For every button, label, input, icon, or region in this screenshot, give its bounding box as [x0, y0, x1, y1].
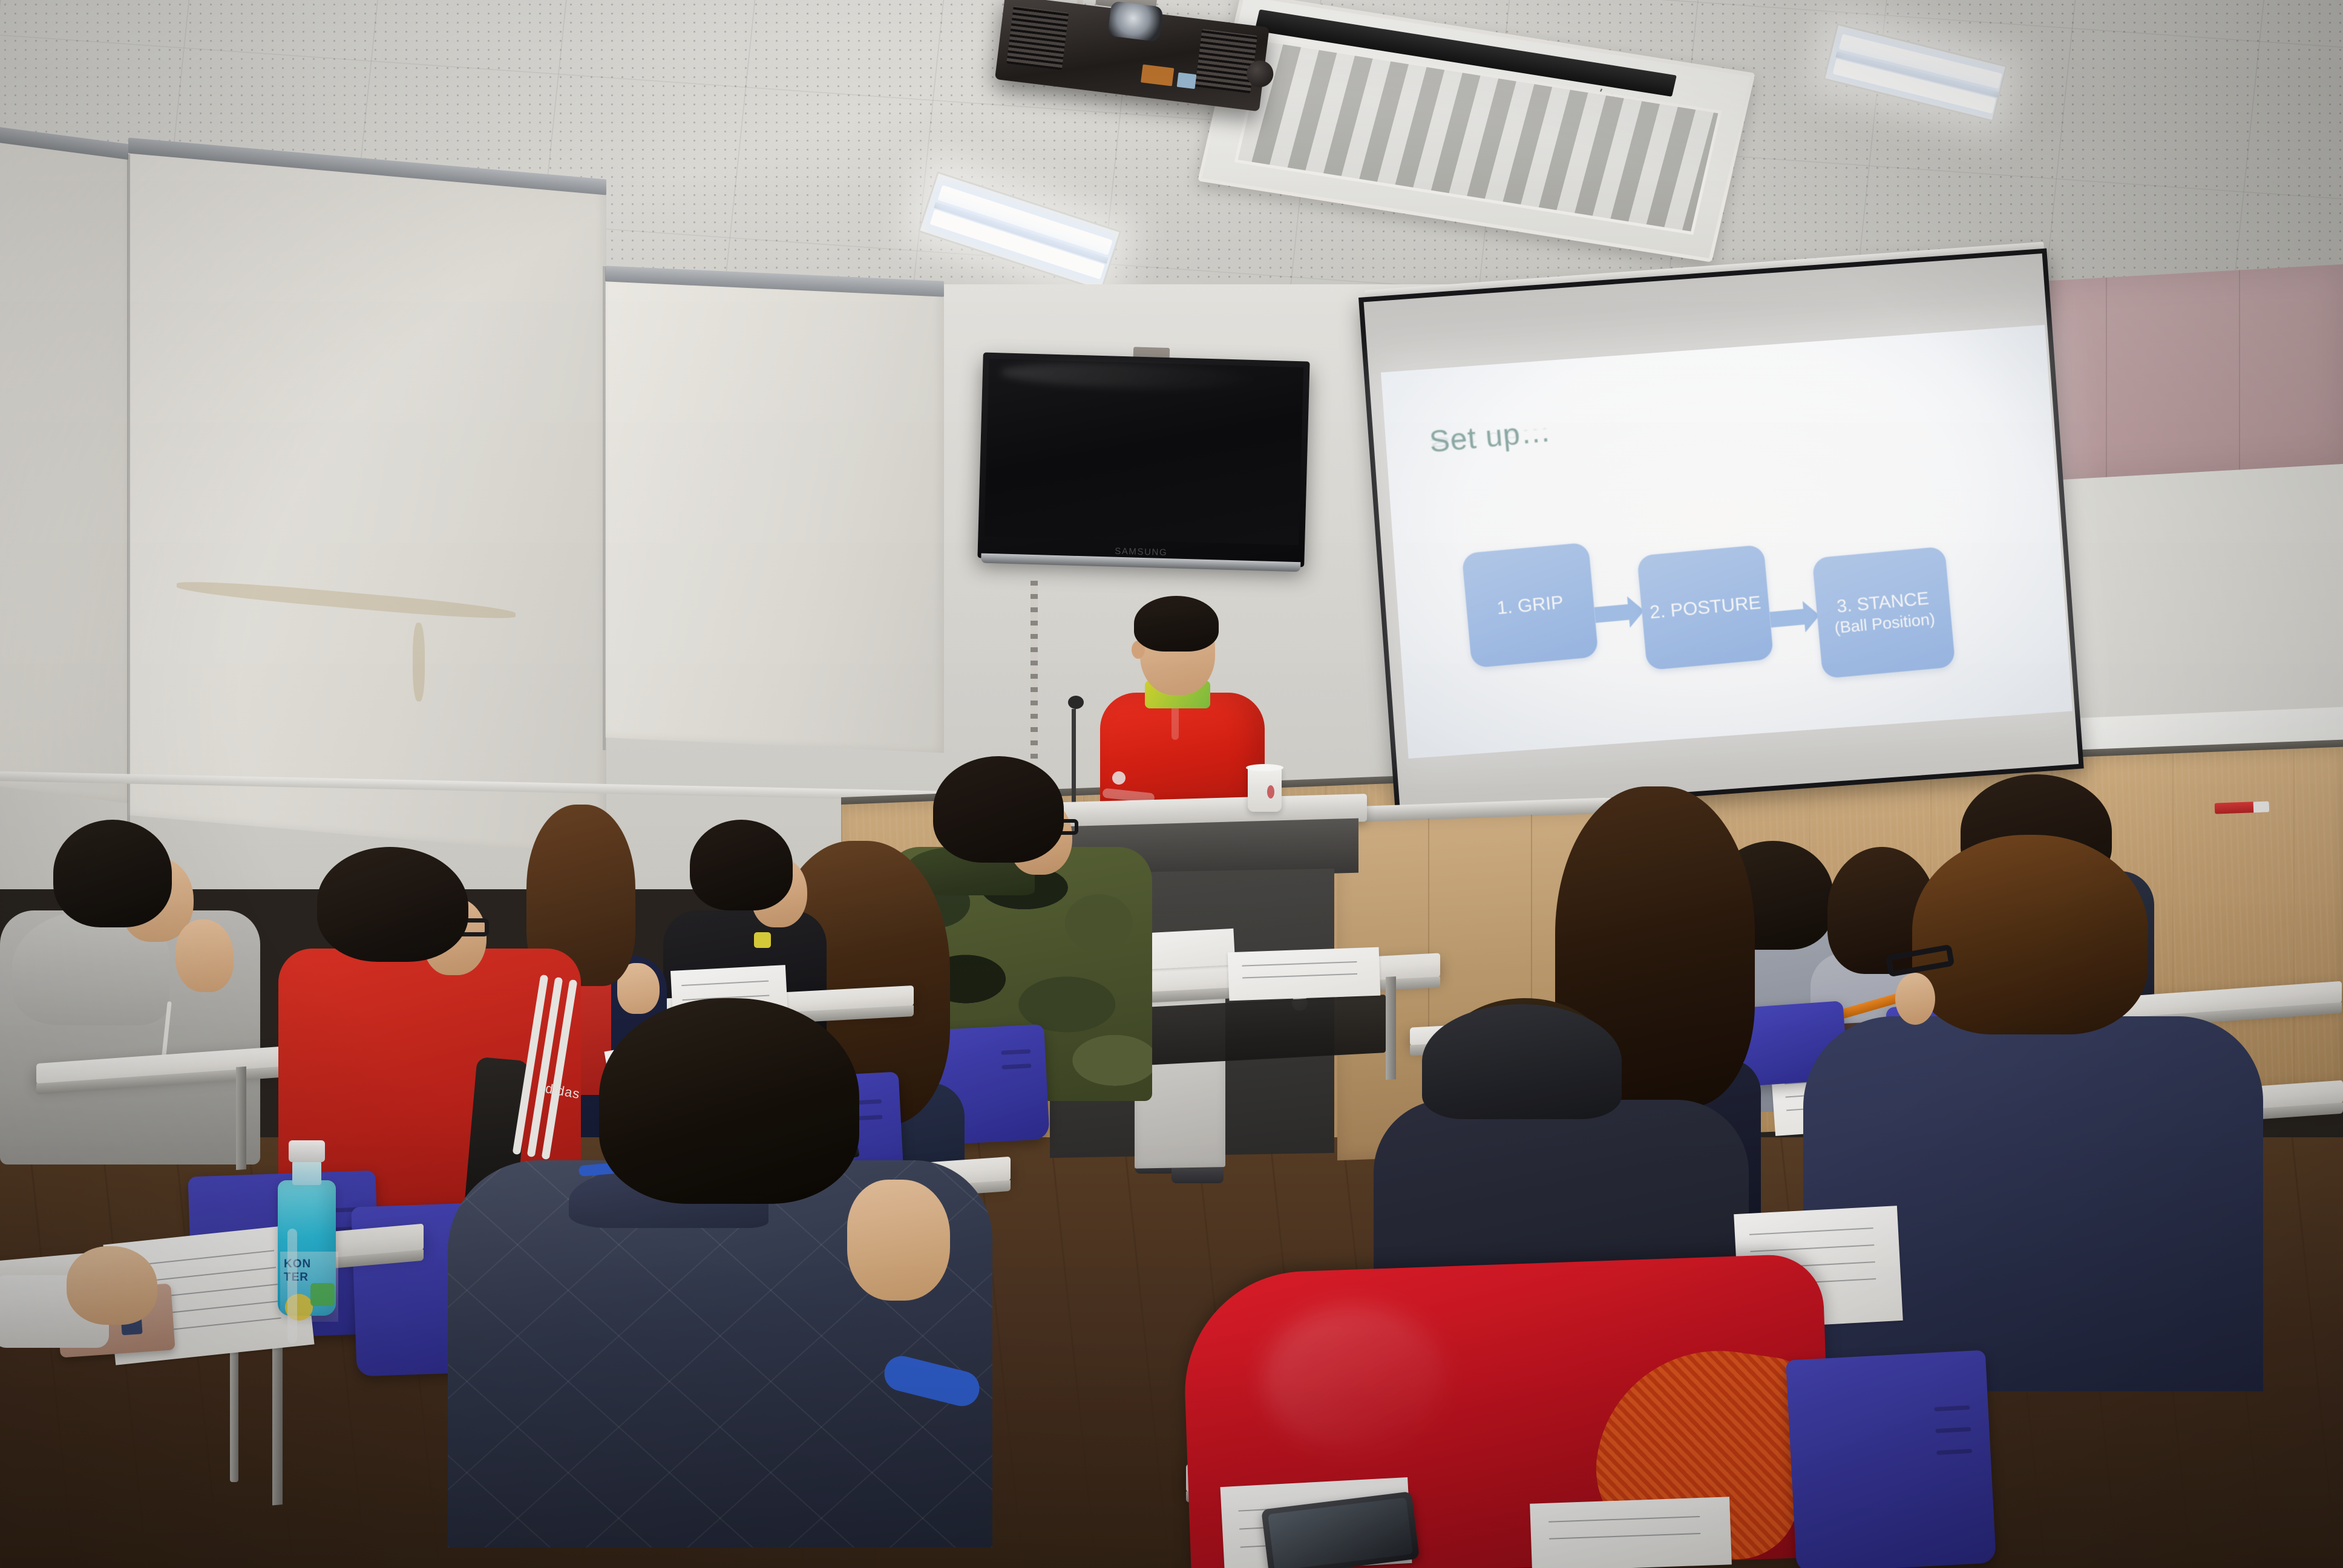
student-ear	[1895, 973, 1935, 1025]
student-hair	[599, 998, 859, 1204]
wall-panel-seam	[2106, 278, 2107, 477]
desk-leg	[1386, 976, 1396, 1080]
projector-sticker	[1141, 64, 1174, 86]
projection-screen-surface: Set up… Set up… 1. GRIP 2. POSTURE	[1364, 253, 2079, 812]
bottle-cap[interactable]	[289, 1140, 325, 1162]
shirt-badge	[754, 932, 771, 948]
classroom-scene: hauzen	[0, 0, 2343, 1568]
classroom-chair[interactable]	[1786, 1350, 1996, 1568]
flow-box-label: 2. POSTURE	[1649, 591, 1762, 624]
worksheet-paper[interactable]	[1228, 947, 1381, 1001]
flow-box-grip: 1. GRIP	[1461, 542, 1598, 668]
bottle-highlight	[287, 1229, 297, 1344]
student-hand	[847, 1180, 950, 1301]
presenter-hair	[1134, 596, 1219, 652]
bottle-label-graphic	[310, 1283, 335, 1306]
water-bottle[interactable]: KON TER	[275, 1140, 338, 1316]
phone-screen	[1268, 1497, 1413, 1568]
wall-seam	[603, 266, 606, 750]
flow-box-stance: 3. STANCE (Ball Position)	[1812, 546, 1955, 679]
wall-seam	[127, 154, 130, 838]
hand	[67, 1246, 157, 1325]
cup-logo	[1267, 785, 1274, 799]
student-arm	[0, 1246, 157, 1349]
student-hand	[175, 920, 234, 992]
projector-vent	[1195, 29, 1257, 93]
student-gray-hoodie	[24, 820, 266, 1195]
red-marker[interactable]	[2215, 801, 2270, 814]
cup-rim	[1246, 764, 1283, 771]
student-navy-quilted-jacket	[520, 998, 1065, 1568]
projector-sticker	[1177, 73, 1197, 89]
flow-box-label: 1. GRIP	[1496, 590, 1564, 619]
tv-bezel: SAMSUNG	[977, 353, 1309, 567]
projection-screen-border: Set up… Set up… 1. GRIP 2. POSTURE	[1358, 248, 2084, 817]
window-roller-blind[interactable]	[128, 137, 606, 857]
student-hair	[317, 847, 468, 962]
student-hair	[690, 820, 793, 910]
bottle-neck	[292, 1161, 321, 1185]
bottle-body: KON TER	[278, 1180, 336, 1316]
flow-arrow	[1769, 609, 1807, 627]
student-torso	[1803, 1016, 2263, 1391]
presentation-slide: Set up… Set up… 1. GRIP 2. POSTURE	[1378, 319, 2076, 765]
projection-screen-assembly: Set up… Set up… 1. GRIP 2. POSTURE	[1365, 290, 2045, 823]
chair-leg	[230, 1331, 238, 1482]
projector-vent	[1006, 6, 1069, 70]
student-cap	[1422, 1004, 1622, 1119]
tv-brand-label: SAMSUNG	[1115, 546, 1167, 558]
wall-mounted-television[interactable]: SAMSUNG	[977, 353, 1309, 567]
student-hair	[1912, 835, 2148, 1034]
worksheet-paper[interactable]	[1530, 1497, 1732, 1568]
flow-box-posture: 2. POSTURE	[1637, 544, 1774, 670]
marker-cap	[2253, 801, 2270, 812]
desk-leg	[236, 1067, 246, 1170]
window-roller-blind[interactable]	[0, 124, 133, 804]
projector-lens	[1107, 1, 1163, 42]
flow-arrow	[1594, 604, 1631, 622]
projected-slide-area: Set up… Set up… 1. GRIP 2. POSTURE	[1381, 325, 2073, 759]
jacket-highlight	[1261, 1303, 1447, 1454]
wall-stain	[177, 577, 516, 622]
wall-stain	[413, 622, 425, 702]
window-roller-blind[interactable]	[605, 266, 944, 753]
microphone-head	[1068, 696, 1084, 709]
wall-panel-seam	[2239, 270, 2240, 469]
student-hair	[53, 820, 172, 927]
paper-cup[interactable]	[1248, 767, 1282, 812]
